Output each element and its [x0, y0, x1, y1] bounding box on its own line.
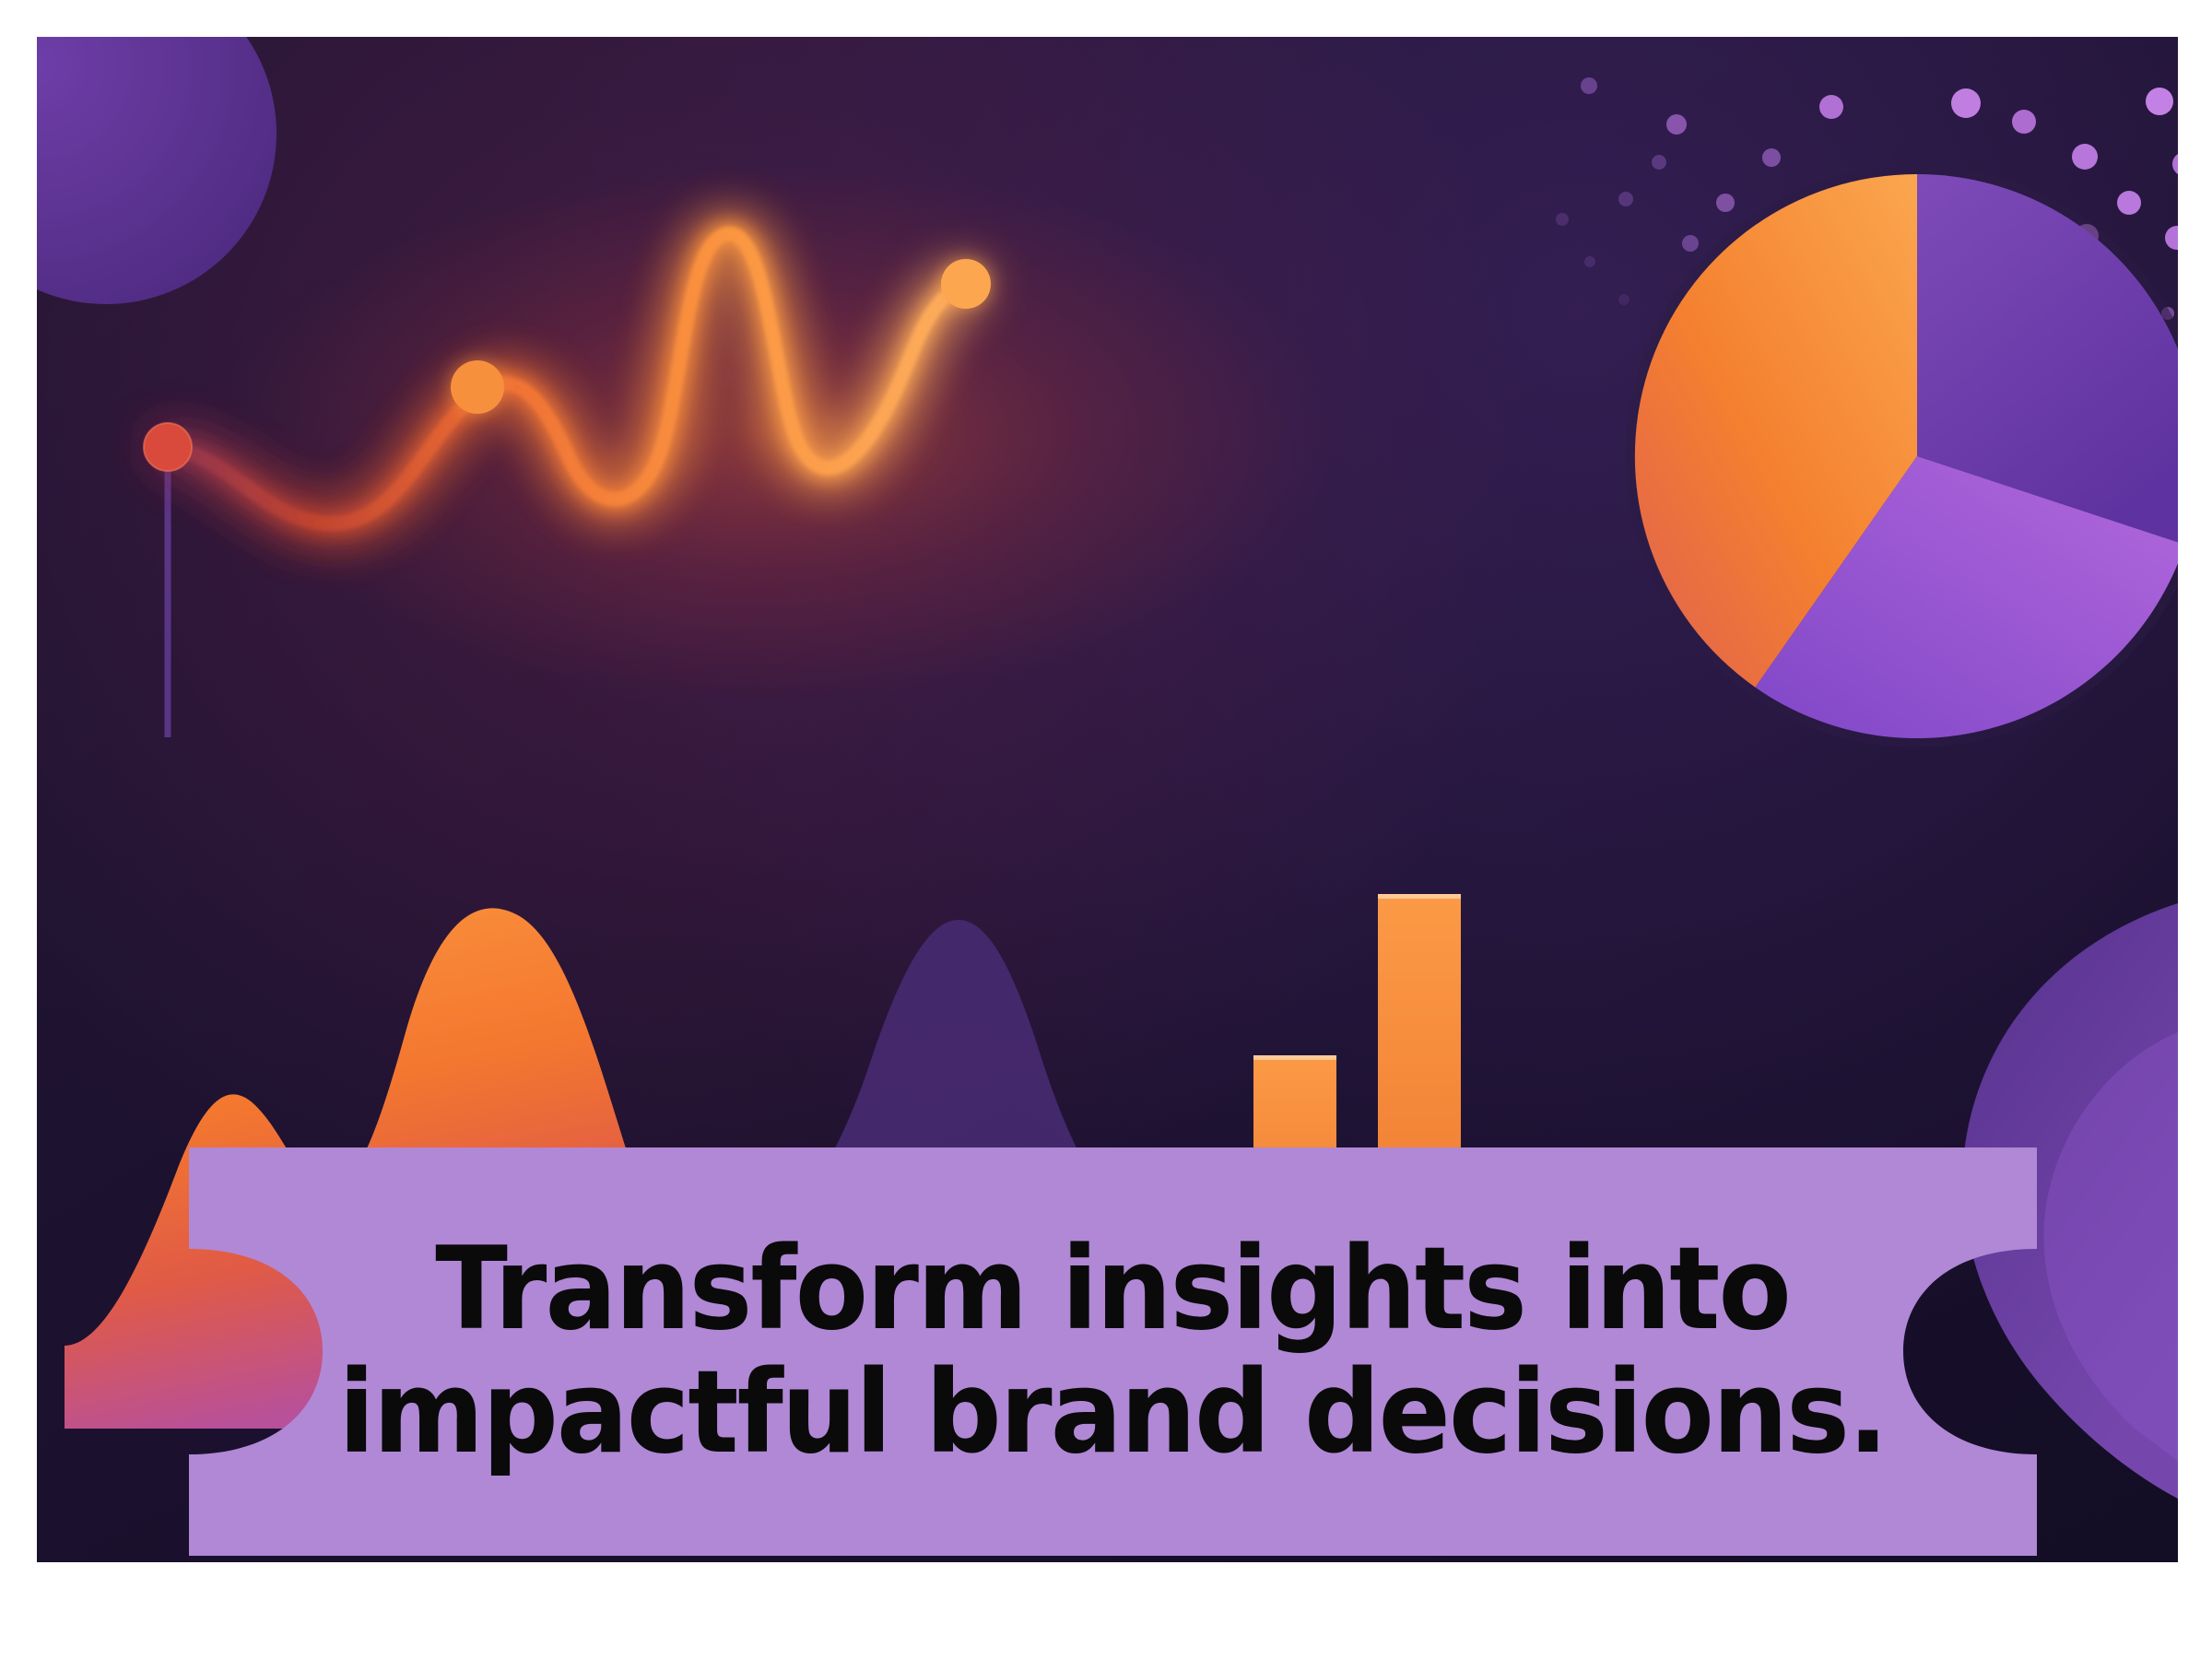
banner-shape [152, 1147, 2074, 1556]
poster-canvas: Transform insights into impactful brand … [37, 37, 2178, 1562]
headline-banner: Transform insights into impactful brand … [152, 1147, 2074, 1556]
pie-chart [1626, 165, 2178, 747]
top-left-circle [37, 37, 276, 304]
line-chart [144, 166, 1336, 737]
